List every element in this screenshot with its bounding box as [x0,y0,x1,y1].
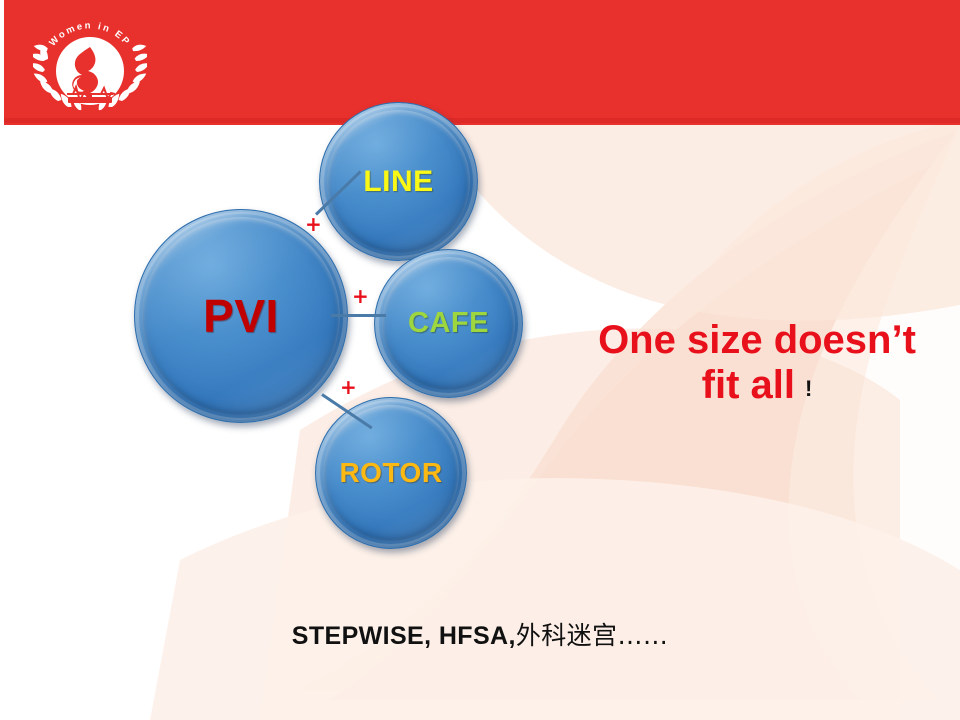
slide-canvas: Women in EP PVI LINE C [0,0,960,720]
plus-operator-rotor: + [340,377,357,397]
node-pvi[interactable]: PVI [134,209,348,423]
node-rotor[interactable]: ROTOR [315,397,467,549]
node-pvi-label: PVI [203,293,279,339]
headline-exclamation: ! [795,376,812,401]
node-cafe-label: CAFE [408,309,489,338]
connector-pvi-cafe [331,314,386,317]
caption-cjk: 外科迷宫…… [516,621,668,650]
node-line-label: LINE [363,167,433,197]
headline-line-2: fit all [702,363,795,407]
node-cafe[interactable]: CAFE [374,249,523,398]
headline: One size doesn’t fit all! [562,318,952,408]
headline-line-2-row: fit all! [562,363,952,408]
node-line[interactable]: LINE [319,102,478,261]
headline-line-1: One size doesn’t [562,318,952,363]
plus-operator-line: + [305,214,322,234]
bottom-caption: STEPWISE, HFSA,外科迷宫…… [0,616,960,652]
women-in-ep-logo: Women in EP [33,9,147,117]
node-rotor-label: ROTOR [339,459,442,487]
plus-operator-cafe: + [352,286,369,306]
caption-latin: STEPWISE, HFSA, [292,622,516,650]
